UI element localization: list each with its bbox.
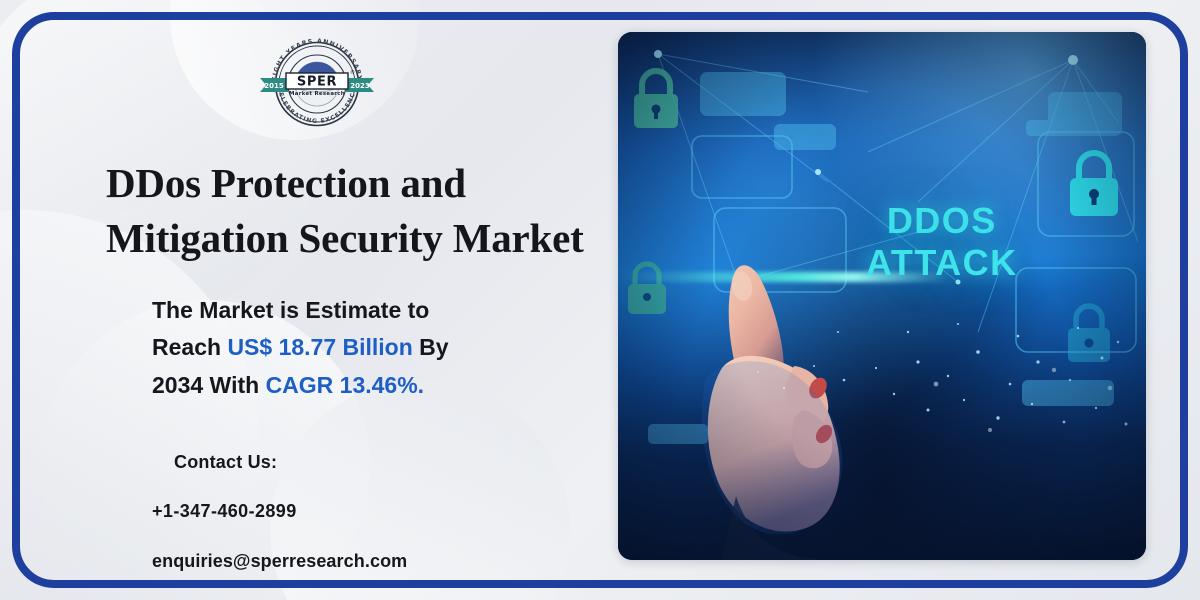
contact-email[interactable]: enquiries@sperresearch.com (152, 551, 582, 572)
sper-logo: EIGHT YEARS ANNIVERSARY CELEBRATING EXCE… (258, 26, 376, 130)
registered-mark-icon: ® (350, 69, 355, 76)
logo-brand-name: SPER (297, 75, 337, 90)
contact-heading: Contact Us: (174, 452, 582, 473)
logo-tagline: Market Research (289, 91, 345, 97)
cagr-accent: CAGR 13.46%. (266, 372, 425, 398)
photo-vignette (618, 32, 1146, 560)
estimate-by-label: By (413, 334, 449, 360)
ddos-attack-photo: DDOS ATTACK (618, 32, 1146, 560)
contact-phone[interactable]: +1-347-460-2899 (152, 501, 582, 522)
logo-year-end: 2023 (350, 82, 370, 90)
page-title-line-2: Mitigation Security Market (106, 215, 584, 261)
market-estimate-text: The Market is Estimate to Reach US$ 18.7… (152, 292, 622, 404)
market-value-accent: US$ 18.77 Billion (227, 334, 412, 360)
promo-banner: EIGHT YEARS ANNIVERSARY CELEBRATING EXCE… (0, 0, 1200, 600)
estimate-line-1: The Market is Estimate to (152, 297, 429, 323)
page-title: DDos Protection and Mitigation Security … (106, 156, 626, 265)
contact-block: Contact Us: +1-347-460-2899 enquiries@sp… (152, 452, 582, 572)
logo-year-start: 2015 (264, 82, 284, 90)
page-title-line-1: DDos Protection and (106, 160, 466, 206)
estimate-year-with-label: 2034 With (152, 372, 266, 398)
estimate-reach-label: Reach (152, 334, 227, 360)
